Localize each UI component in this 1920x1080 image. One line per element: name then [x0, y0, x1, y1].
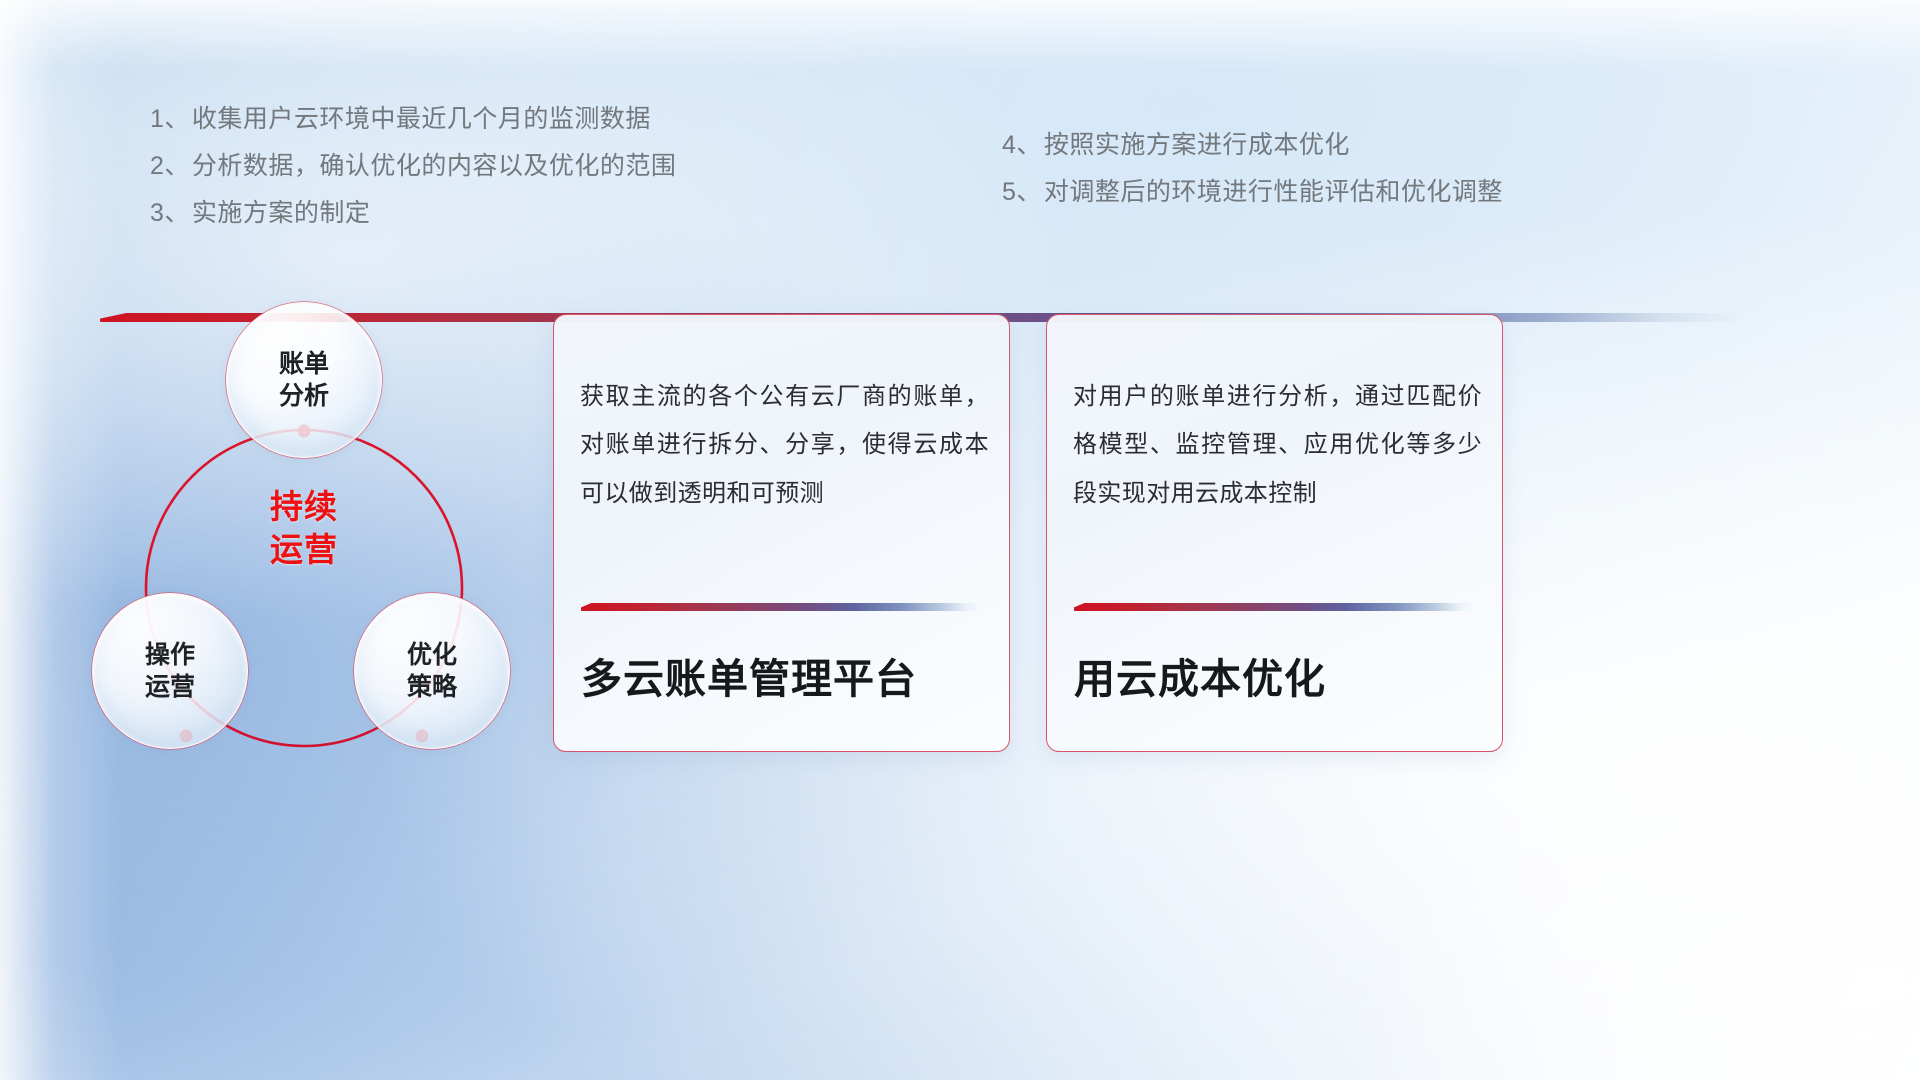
process-step-item: 4、 按照实施方案进行成本优化 — [1002, 122, 1503, 169]
venn-bubble-label-line1: 操作 — [145, 639, 195, 671]
process-step-item: 2、 分析数据，确认优化的内容以及优化的范围 — [150, 143, 676, 190]
card-title: 用云成本优化 — [1074, 655, 1482, 704]
step-number: 2、 — [150, 154, 190, 179]
card-divider-bar — [1074, 603, 1474, 611]
venn-bubble-label-line1: 优化 — [407, 639, 457, 671]
step-number: 4、 — [1002, 133, 1042, 158]
venn-center-label-line2: 运营 — [233, 529, 375, 572]
venn-center-label-line1: 持续 — [233, 486, 375, 529]
step-number: 5、 — [1002, 180, 1042, 205]
process-steps-left-column: 1、 收集用户云环境中最近几个月的监测数据 2、 分析数据，确认优化的内容以及优… — [150, 96, 676, 237]
venn-bubble-label-line1: 账单 — [279, 348, 329, 380]
card-title: 多云账单管理平台 — [581, 655, 989, 704]
venn-bubble-label-line2: 运营 — [145, 671, 195, 703]
venn-bubble-bill-analysis[interactable]: 账单 分析 — [226, 302, 382, 458]
step-text: 收集用户云环境中最近几个月的监测数据 — [192, 107, 651, 132]
card-divider-bar — [581, 603, 981, 611]
venn-bubble-label-line2: 分析 — [279, 380, 329, 412]
process-step-item: 3、 实施方案的制定 — [150, 190, 676, 237]
step-number: 3、 — [150, 201, 190, 226]
process-step-item: 5、 对调整后的环境进行性能评估和优化调整 — [1002, 169, 1503, 216]
step-number: 1、 — [150, 107, 190, 132]
step-text: 分析数据，确认优化的内容以及优化的范围 — [192, 154, 677, 179]
step-text: 实施方案的制定 — [192, 201, 371, 226]
process-steps-right-column: 4、 按照实施方案进行成本优化 5、 对调整后的环境进行性能评估和优化调整 — [1002, 122, 1503, 216]
venn-bubble-optimization-strategy[interactable]: 优化 策略 — [354, 593, 510, 749]
feature-card-cloud-cost-optimization[interactable]: 对用户的账单进行分析，通过匹配价格模型、监控管理、应用优化等多少段实现对用云成本… — [1046, 314, 1503, 752]
venn-center-label: 持续 运营 — [233, 486, 375, 572]
card-body-text: 对用户的账单进行分析，通过匹配价格模型、监控管理、应用优化等多少段实现对用云成本… — [1073, 373, 1482, 518]
feature-card-multi-cloud-bill-platform[interactable]: 获取主流的各个公有云厂商的账单，对账单进行拆分、分享，使得云成本可以做到透明和可… — [553, 314, 1010, 752]
process-step-item: 1、 收集用户云环境中最近几个月的监测数据 — [150, 96, 676, 143]
step-text: 按照实施方案进行成本优化 — [1044, 133, 1350, 158]
card-body-text: 获取主流的各个公有云厂商的账单，对账单进行拆分、分享，使得云成本可以做到透明和可… — [580, 373, 989, 518]
venn-bubble-label-line2: 策略 — [407, 671, 457, 703]
background-top-highlight — [0, 0, 1920, 70]
step-text: 对调整后的环境进行性能评估和优化调整 — [1044, 180, 1503, 205]
continuous-operation-venn-diagram: 账单 分析 操作 运营 优化 策略 持续 运营 — [78, 286, 548, 776]
venn-bubble-operations[interactable]: 操作 运营 — [92, 593, 248, 749]
